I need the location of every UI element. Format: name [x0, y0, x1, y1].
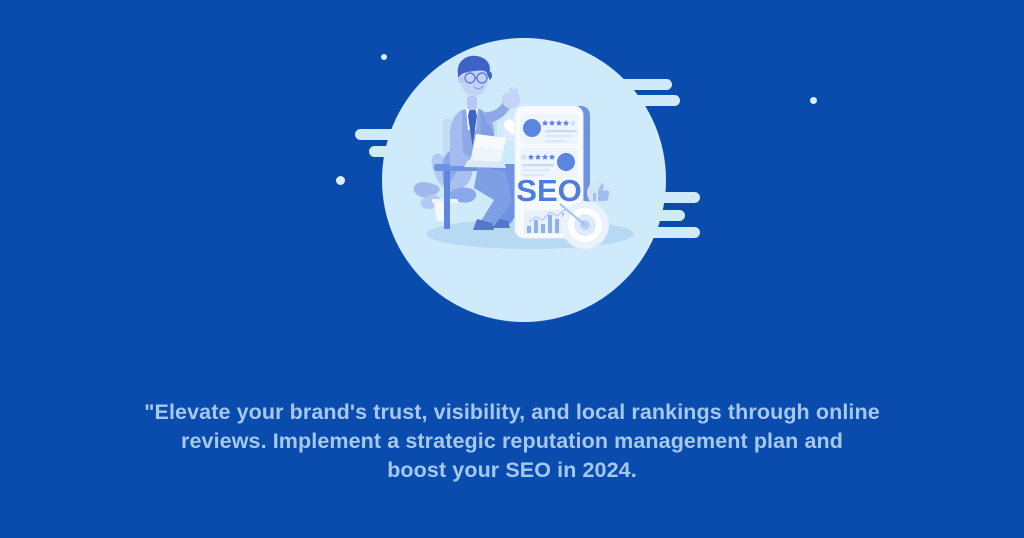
caption-line-1: "Elevate your brand's trust, visibility,… — [0, 398, 1024, 427]
seo-promo-banner: SEO — [0, 0, 1024, 538]
caption-line-2: reviews. Implement a strategic reputatio… — [0, 427, 1024, 456]
decor-dot-mid-left — [336, 176, 345, 185]
review-card — [520, 114, 578, 144]
avatar — [557, 153, 575, 171]
caption-line-3: boost your SEO in 2024. — [0, 456, 1024, 485]
decor-dot-top-right — [810, 97, 817, 104]
avatar — [523, 119, 541, 137]
banner-caption: "Elevate your brand's trust, visibility,… — [0, 398, 1024, 485]
phone-seo-label: SEO — [516, 173, 581, 208]
seo-reputation-illustration: SEO — [382, 38, 666, 322]
